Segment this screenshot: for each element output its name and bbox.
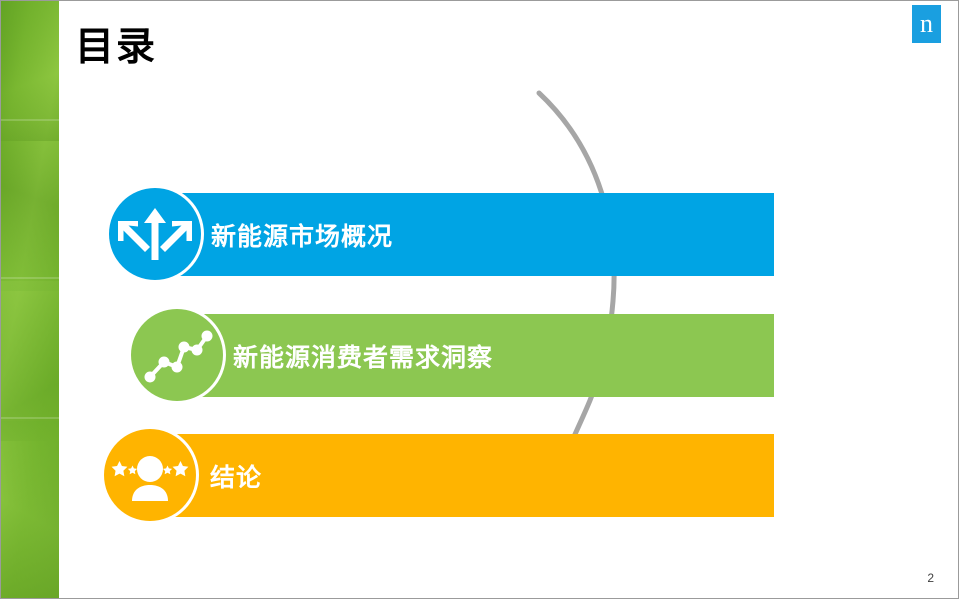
- three-arrows-icon: [109, 188, 201, 280]
- agenda-label-2: 新能源消费者需求洞察: [233, 314, 493, 397]
- sidebar-leaf-texture-2: [1, 121, 59, 291]
- nielsen-logo: n: [912, 5, 941, 43]
- agenda-row-3[interactable]: 结论: [150, 434, 774, 517]
- agenda-icon-circle-3: [104, 429, 196, 521]
- sidebar-leaf-texture-4: [1, 421, 59, 599]
- sidebar-vein-2: [1, 277, 59, 279]
- agenda-icon-circle-1: [109, 188, 201, 280]
- nielsen-logo-letter: n: [920, 9, 933, 38]
- agenda-label-1: 新能源市场概况: [211, 193, 393, 276]
- page-number: 2: [927, 571, 934, 585]
- page-title: 目录: [75, 23, 157, 73]
- sidebar-vein-1: [1, 119, 59, 121]
- person-stars-icon: [104, 429, 196, 521]
- sidebar-green-band: Copyright © 2017 The Nielsen Company. Co…: [1, 1, 59, 599]
- line-chart-icon: [131, 309, 223, 401]
- agenda-label-3: 结论: [210, 434, 262, 517]
- agenda-row-2[interactable]: 新能源消费者需求洞察: [177, 314, 774, 397]
- agenda-icon-circle-2: [131, 309, 223, 401]
- slide-canvas: Copyright © 2017 The Nielsen Company. Co…: [0, 0, 959, 599]
- agenda-row-1[interactable]: 新能源市场概况: [155, 193, 774, 276]
- sidebar-vein-3: [1, 417, 59, 419]
